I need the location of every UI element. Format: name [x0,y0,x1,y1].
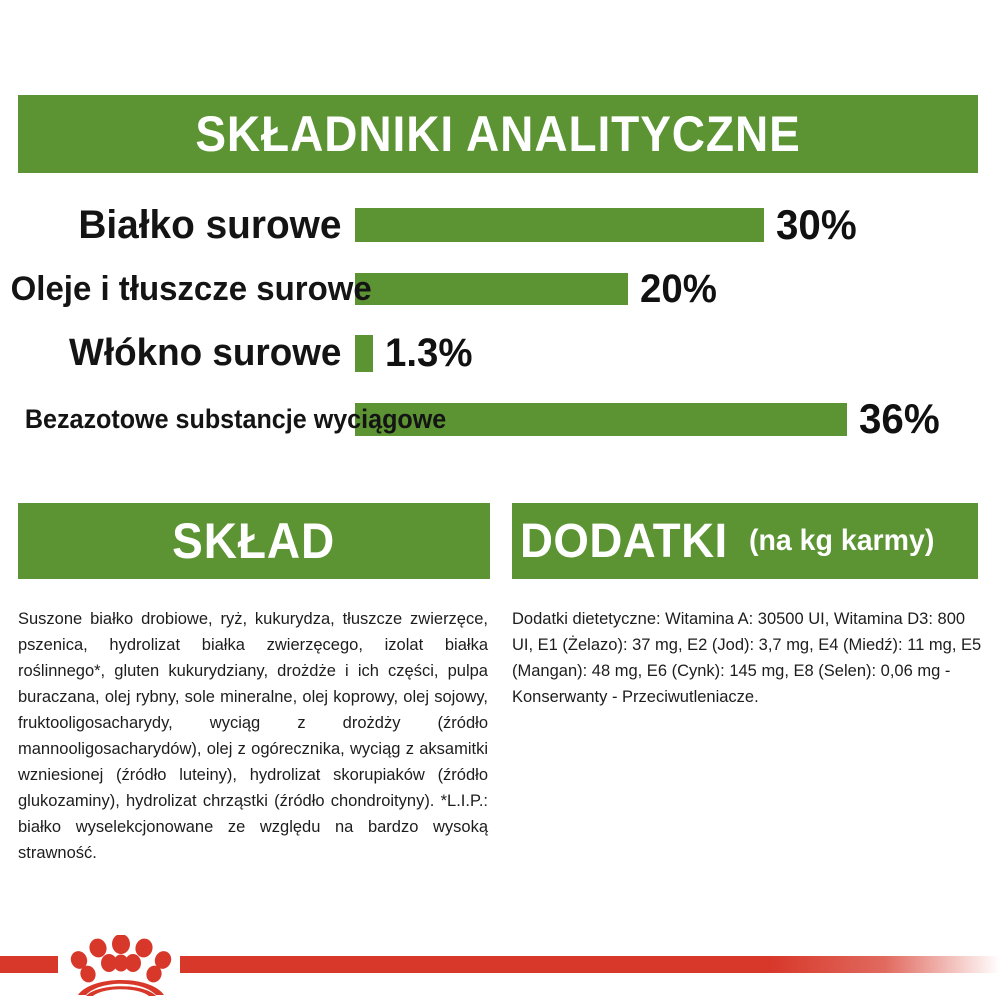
chart-row-value: 36% [859,398,940,440]
chart-row-bar [355,335,373,372]
chart-row-bar [355,273,628,305]
footer-rule-right [180,956,1000,973]
additives-title: DODATKI [520,514,728,569]
additives-subtitle: (na kg karmy) [749,524,934,558]
analytical-constituents-title: SKŁADNIKI ANALITYCZNE [195,105,800,163]
additives-header: DODATKI (na kg karmy) [512,503,978,579]
chart-row: Włókno surowe 1.3% [0,328,1000,378]
composition-header: SKŁAD [18,503,490,579]
chart-row: Białko surowe 30% [0,200,1000,250]
chart-row-label: Włókno surowe [11,334,355,372]
chart-row: Bezazotowe substancje wyciągowe 36% [0,394,1000,444]
analytical-constituents-header: SKŁADNIKI ANALITYCZNE [18,95,978,173]
composition-text: Suszone białko drobiowe, ryż, kukurydza,… [18,606,488,866]
chart-row-value: 30% [776,204,857,246]
chart-row-value: 20% [640,269,717,309]
composition-title: SKŁAD [172,512,335,570]
chart-row-label: Białko surowe [11,205,355,245]
chart-row: Oleje i tłuszcze surowe 20% [0,264,1000,314]
royal-canin-crown-icon [66,935,176,997]
chart-row-bar [355,208,764,242]
footer-rule-left [0,956,58,973]
brand-footer [0,925,1000,1000]
chart-row-value: 1.3% [385,333,473,373]
nutrition-label-sheet: SKŁADNIKI ANALITYCZNE Białko surowe 30% … [0,0,1000,1000]
chart-row-label: Oleje i tłuszcze surowe [11,272,355,306]
chart-row-label: Bezazotowe substancje wyciągowe [25,406,355,433]
additives-text: Dodatki dietetyczne: Witamina A: 30500 U… [512,606,982,710]
analytical-constituents-chart: Białko surowe 30% Oleje i tłuszcze surow… [0,192,1000,460]
